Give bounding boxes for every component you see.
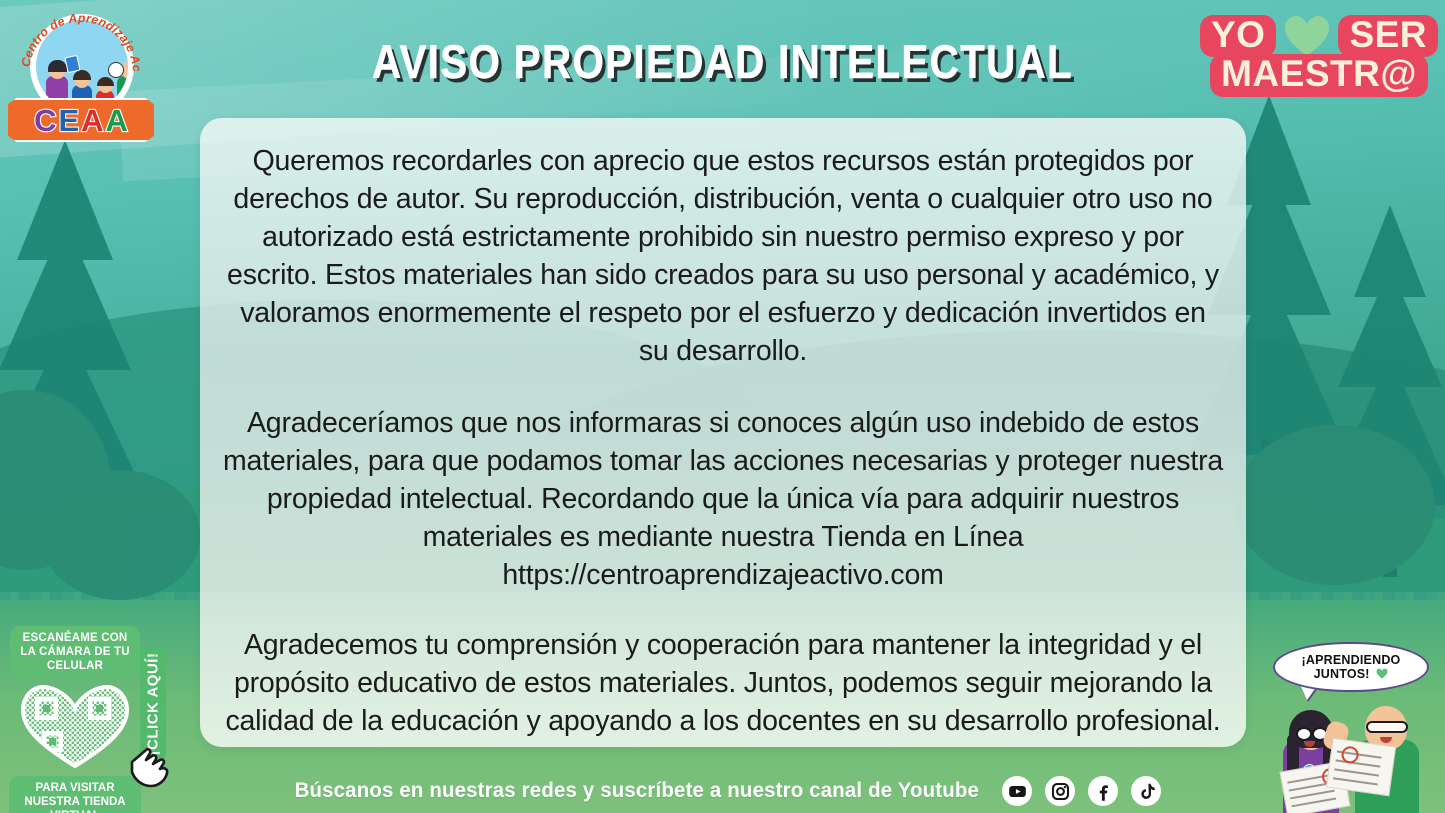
footer-text: Búscanos en nuestras redes y suscríbete … bbox=[294, 779, 979, 803]
bubble-line-2-wrap: JUNTOS! bbox=[1314, 667, 1389, 681]
ceaa-letter-a2: A bbox=[106, 105, 128, 136]
youtube-icon[interactable] bbox=[1002, 776, 1032, 806]
badge-text-maestro: MAESTR@ bbox=[1221, 55, 1417, 93]
footer-bar: Búscanos en nuestras redes y suscríbete … bbox=[0, 769, 1445, 813]
ceaa-letter-e: E bbox=[58, 105, 79, 136]
background-forest-left bbox=[0, 140, 220, 610]
notice-paragraph-3: Agradecemos tu comprensión y cooperación… bbox=[222, 626, 1224, 740]
speech-bubble: ¡APRENDIENDO JUNTOS! bbox=[1273, 642, 1429, 692]
instagram-icon[interactable] bbox=[1045, 776, 1075, 806]
ceaa-letter-a1: A bbox=[81, 105, 103, 136]
ceaa-logo-ribbon: C E A A bbox=[8, 98, 154, 142]
bubble-line-2: JUNTOS! bbox=[1314, 667, 1370, 681]
notice-card: Queremos recordarles con aprecio que est… bbox=[200, 118, 1246, 747]
store-url[interactable]: https://centroaprendizajeactivo.com bbox=[222, 556, 1224, 594]
poster-canvas: Centro de Aprendizaje Activo C E A A AVI… bbox=[0, 0, 1445, 813]
facebook-icon[interactable] bbox=[1088, 776, 1118, 806]
paragraph-spacer bbox=[222, 370, 1224, 404]
qr-top-label: ESCANÉAME CON LA CÁMARA DE TU CELULAR bbox=[10, 626, 140, 678]
yo-ser-maestro-badge[interactable]: YO SER MAESTR@ bbox=[1201, 14, 1437, 108]
badge-pill-maestro: MAESTR@ bbox=[1210, 54, 1428, 97]
notice-paragraph-2: Agradeceríamos que nos informaras si con… bbox=[222, 404, 1224, 556]
page-title: AVISO PROPIEDAD INTELECTUAL bbox=[101, 34, 1344, 89]
ceaa-letter-c: C bbox=[34, 105, 56, 136]
badge-pill-yo: YO bbox=[1200, 15, 1276, 58]
bubble-line-1: ¡APRENDIENDO bbox=[1302, 653, 1401, 667]
badge-line-2: MAESTR@ bbox=[1201, 54, 1437, 97]
badge-line-1: YO SER bbox=[1201, 14, 1437, 58]
qr-code-heart-icon[interactable] bbox=[19, 684, 131, 768]
heart-icon bbox=[1283, 14, 1331, 58]
tiktok-icon[interactable] bbox=[1131, 776, 1161, 806]
paragraph-spacer bbox=[222, 594, 1224, 626]
notice-paragraph-1: Queremos recordarles con aprecio que est… bbox=[222, 142, 1224, 370]
badge-text-ser: SER bbox=[1349, 16, 1427, 54]
badge-pill-ser: SER bbox=[1338, 15, 1438, 58]
heart-icon bbox=[1376, 668, 1388, 679]
badge-text-yo: YO bbox=[1211, 16, 1265, 54]
